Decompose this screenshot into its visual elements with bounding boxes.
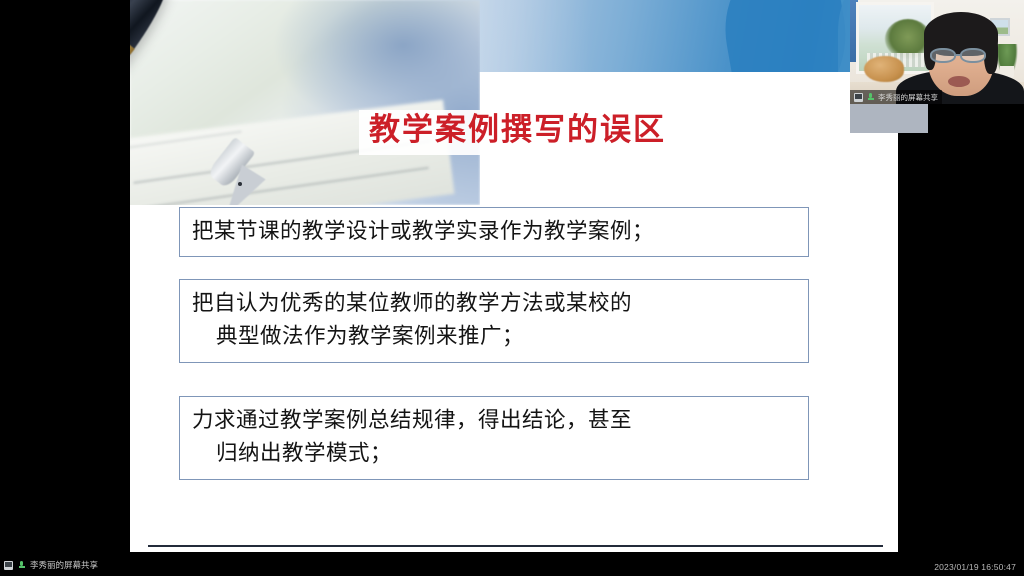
fountain-pen-photo xyxy=(130,0,480,205)
webcam-name-label: 李秀丽的屏幕共享 xyxy=(850,90,942,104)
screen-share-viewport: 教学案例撰写的误区 把某节课的教学设计或教学实录作为教学案例； 把自认为优秀的某… xyxy=(0,0,1024,576)
webcam-person-eyeglass-bridge xyxy=(956,54,962,56)
slide-title-highlight: 教学案例撰写的误区 xyxy=(359,110,676,155)
microphone-icon xyxy=(866,93,875,102)
page-title: 教学案例撰写的误区 xyxy=(369,113,666,149)
banner-swoosh-shape xyxy=(714,0,858,72)
webcam-panel-stub xyxy=(850,104,928,133)
webcam-label-text: 李秀丽的屏幕共享 xyxy=(878,92,938,103)
bullet-line-continued: 归纳出教学模式； xyxy=(192,437,798,470)
pen-gold-ring xyxy=(130,21,135,55)
monitor-icon xyxy=(854,93,863,102)
bullet-text-3: 力求通过教学案例总结规律，得出结论，甚至 归纳出教学模式； xyxy=(192,404,798,471)
bullet-line-continued: 典型做法作为教学案例来推广； xyxy=(192,320,798,353)
slide-footer-divider xyxy=(148,545,883,547)
microphone-icon xyxy=(17,561,26,570)
webcam-person-mouth xyxy=(948,76,970,87)
recording-timestamp: 2023/01/19 16:50:47 xyxy=(934,562,1016,572)
screen-share-status: 李秀丽的屏幕共享 xyxy=(4,558,98,572)
bullet-box-3: 力求通过教学案例总结规律，得出结论，甚至 归纳出教学模式； xyxy=(179,396,809,480)
webcam-person-eyeglass-left xyxy=(930,48,956,63)
pen-nib-vent xyxy=(238,182,242,186)
bullet-text-2: 把自认为优秀的某位教师的教学方法或某校的 典型做法作为教学案例来推广； xyxy=(192,287,798,354)
monitor-icon xyxy=(4,561,13,570)
webcam-person-hair-side xyxy=(984,30,998,74)
webcam-person-eyeglass-right xyxy=(960,48,986,63)
webcam-self-view[interactable]: 李秀丽的屏幕共享 xyxy=(850,0,1024,104)
bullet-line: 力求通过教学案例总结规律，得出结论，甚至 xyxy=(192,408,632,433)
bullet-text-1: 把某节课的教学设计或教学实录作为教学案例； xyxy=(192,215,798,248)
webcam-bread-object xyxy=(864,56,904,82)
screen-share-status-text: 李秀丽的屏幕共享 xyxy=(30,559,98,571)
bullet-line: 把某节课的教学设计或教学实录作为教学案例； xyxy=(192,219,654,244)
bullet-box-1: 把某节课的教学设计或教学实录作为教学案例； xyxy=(179,207,809,257)
bullet-line: 把自认为优秀的某位教师的教学方法或某校的 xyxy=(192,291,632,316)
bullet-box-2: 把自认为优秀的某位教师的教学方法或某校的 典型做法作为教学案例来推广； xyxy=(179,279,809,363)
shared-slide: 教学案例撰写的误区 把某节课的教学设计或教学实录作为教学案例； 把自认为优秀的某… xyxy=(130,0,898,552)
